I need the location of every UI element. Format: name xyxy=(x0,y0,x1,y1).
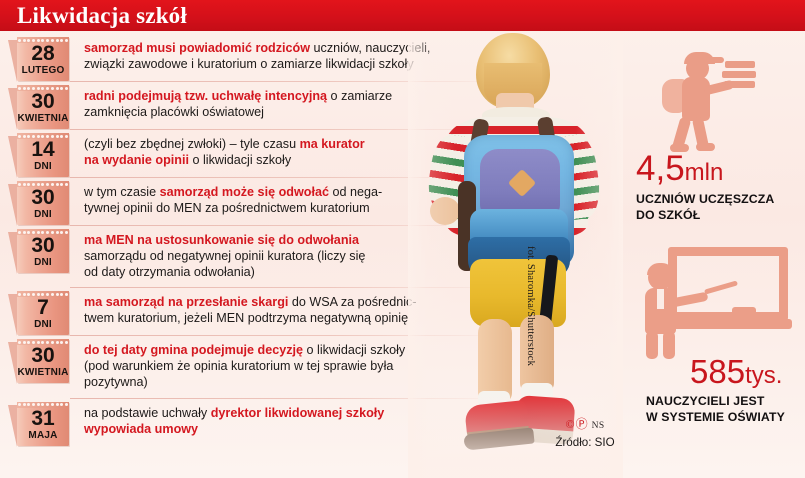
calendar-day: 30 xyxy=(17,186,69,209)
highlight-text: samorząd może się odwołać xyxy=(160,185,329,199)
leg-shape xyxy=(663,331,675,359)
body-text: (czyli bez zbędnej zwłoki) – tyle czasu xyxy=(84,137,300,151)
body-text: do WSA za pośrednic- xyxy=(288,295,416,309)
stat-label-teachers: NAUCZYCIELI JEST W SYSTEMIE OŚWIATY xyxy=(628,388,805,425)
calendar-day: 31 xyxy=(17,407,69,430)
leg-shape xyxy=(646,331,658,359)
teacher-at-blackboard-icon xyxy=(634,243,802,359)
highlight-text: radni podejmują tzw. uchwałę intencyjną xyxy=(84,89,327,103)
calendar-day: 30 xyxy=(17,344,69,367)
calendar-icon: 7DNI xyxy=(12,291,69,335)
agency-code: NS xyxy=(589,421,605,431)
tie-shape xyxy=(657,289,664,309)
calendar-icon: 30DNI xyxy=(12,181,69,225)
books-stack-icon xyxy=(722,61,756,95)
body-text: samorządu od negatywnej opinii kuratora … xyxy=(84,249,365,263)
calendar-day: 7 xyxy=(17,296,69,319)
body-text: od nega- xyxy=(329,185,382,199)
page-title: Likwidacja szkół xyxy=(17,3,187,29)
body-text: pozytywna) xyxy=(84,375,148,389)
stat-block-teachers: 585tys. NAUCZYCIELI JEST W SYSTEMIE OŚWI… xyxy=(628,243,805,425)
body-text: w tym czasie xyxy=(84,185,160,199)
source-label: Źródło: SIO xyxy=(520,433,650,449)
copyright-icon: ©ⓅNS xyxy=(565,415,604,432)
calendar-icon-wrap: 14DNI xyxy=(8,133,70,177)
body-text: tywnej opinii do MEN za pośrednictwem ku… xyxy=(84,201,370,215)
body-text: na podstawie uchwały xyxy=(84,406,211,420)
highlight-text: samorząd musi powiadomić rodziców xyxy=(84,41,310,55)
student-photo xyxy=(408,31,623,478)
calendar-icon-wrap: 30DNI xyxy=(8,229,70,273)
photo-credit: fot. Sharomka/Shutterstock xyxy=(525,246,536,366)
stat-label-line-2: W SYSTEMIE OŚWIATY xyxy=(646,410,805,426)
foot-shape xyxy=(670,144,689,152)
calendar-icon: 30KWIETNIA xyxy=(12,339,69,383)
stat-icon-area xyxy=(628,39,805,151)
calendar-icon: 28LUTEGO xyxy=(12,37,69,81)
body-text: zamknięcia placówki oświatowej xyxy=(84,105,264,119)
walking-pupil-with-books-icon xyxy=(650,43,770,151)
calendar-month: LUTEGO xyxy=(14,65,72,77)
eraser-shape xyxy=(732,307,756,319)
highlight-text: na wydanie opinii xyxy=(84,153,189,167)
header-bar: Likwidacja szkół xyxy=(0,0,805,31)
highlight-text: ma samorząd na przesłanie skargi xyxy=(84,295,288,309)
stat-unit: tys. xyxy=(745,362,782,389)
highlight-text: ma kurator xyxy=(300,137,365,151)
copyright-line: ©ⓅNS xyxy=(520,415,650,433)
book-shape xyxy=(722,71,756,78)
stat-value-students: 4,5mln xyxy=(628,151,805,186)
body-text: od daty otrzymania odwołania) xyxy=(84,265,255,279)
highlight-text: dyrektor likwidowanej szkoły xyxy=(211,406,385,420)
stat-value-teachers: 585tys. xyxy=(628,355,805,388)
highlight-text: do tej daty gmina podejmuje decyzję xyxy=(84,343,303,357)
calendar-day: 28 xyxy=(17,42,69,65)
foot-shape xyxy=(696,143,715,151)
stat-block-students: 4,5mln UCZNIÓW UCZĘSZCZA DO SZKÓŁ xyxy=(628,39,805,223)
calendar-month: DNI xyxy=(14,257,72,269)
calendar-icon: 30DNI xyxy=(12,229,69,273)
calendar-month: KWIETNIA xyxy=(14,113,72,125)
calendar-icon: 30KWIETNIA xyxy=(12,85,69,129)
body-text: o zamiarze xyxy=(327,89,392,103)
body-text: związki zawodowe i kuratorium o zamiarze… xyxy=(84,57,414,71)
left-hand-shape xyxy=(430,197,460,225)
calendar-month: DNI xyxy=(14,209,72,221)
calendar-icon-wrap: 30KWIETNIA xyxy=(8,85,70,129)
highlight-text: wypowiada umowy xyxy=(84,422,198,436)
calendar-day: 14 xyxy=(17,138,69,161)
body-text: o likwidacji szkoły xyxy=(303,343,405,357)
stat-icon-area xyxy=(628,243,805,355)
calendar-month: KWIETNIA xyxy=(14,367,72,379)
blackboard-ledge-shape xyxy=(664,319,792,329)
body-text: (pod warunkiem że opinia kuratorium w te… xyxy=(84,359,393,373)
calendar-icon: 31MAJA xyxy=(12,402,69,446)
calendar-month: MAJA xyxy=(14,430,72,442)
stat-label-line-2: DO SZKÓŁ xyxy=(636,208,805,224)
stat-label-line-1: NAUCZYCIELI JEST xyxy=(646,394,805,410)
stat-number: 4,5 xyxy=(636,149,685,188)
body-text: o likwidacji szkoły xyxy=(189,153,291,167)
highlight-text: ma MEN na ustosunkowanie się do odwołani… xyxy=(84,233,359,247)
infographic-root: Likwidacja szkół 28LUTEGOsamorząd musi p… xyxy=(0,0,805,478)
credits-block: ©ⓅNS Źródło: SIO xyxy=(520,415,650,449)
head-shape xyxy=(648,265,673,290)
calendar-icon-wrap: 7DNI xyxy=(8,291,70,335)
student-figure xyxy=(408,31,623,478)
calendar-icon-wrap: 30KWIETNIA xyxy=(8,339,70,383)
torso-shape xyxy=(682,77,710,121)
stat-unit: mln xyxy=(685,159,724,186)
calendar-day: 30 xyxy=(17,234,69,257)
body-text: twem kuratorium, jeżeli MEN podtrzyma ne… xyxy=(84,311,408,325)
calendar-month: DNI xyxy=(14,161,72,173)
calendar-icon-wrap: 31MAJA xyxy=(8,402,70,446)
stat-label-line-1: UCZNIÓW UCZĘSZCZA xyxy=(636,192,805,208)
calendar-month: DNI xyxy=(14,319,72,331)
calendar-day: 30 xyxy=(17,90,69,113)
calendar-icon: 14DNI xyxy=(12,133,69,177)
statistics-panel: 4,5mln UCZNIÓW UCZĘSZCZA DO SZKÓŁ xyxy=(628,31,805,478)
book-shape xyxy=(725,61,755,68)
copyright-marks: ©Ⓟ xyxy=(565,417,588,431)
calendar-icon-wrap: 30DNI xyxy=(8,181,70,225)
book-shape xyxy=(724,81,755,88)
calendar-icon-wrap: 28LUTEGO xyxy=(8,37,70,81)
stat-label-students: UCZNIÓW UCZĘSZCZA DO SZKÓŁ xyxy=(628,186,805,223)
